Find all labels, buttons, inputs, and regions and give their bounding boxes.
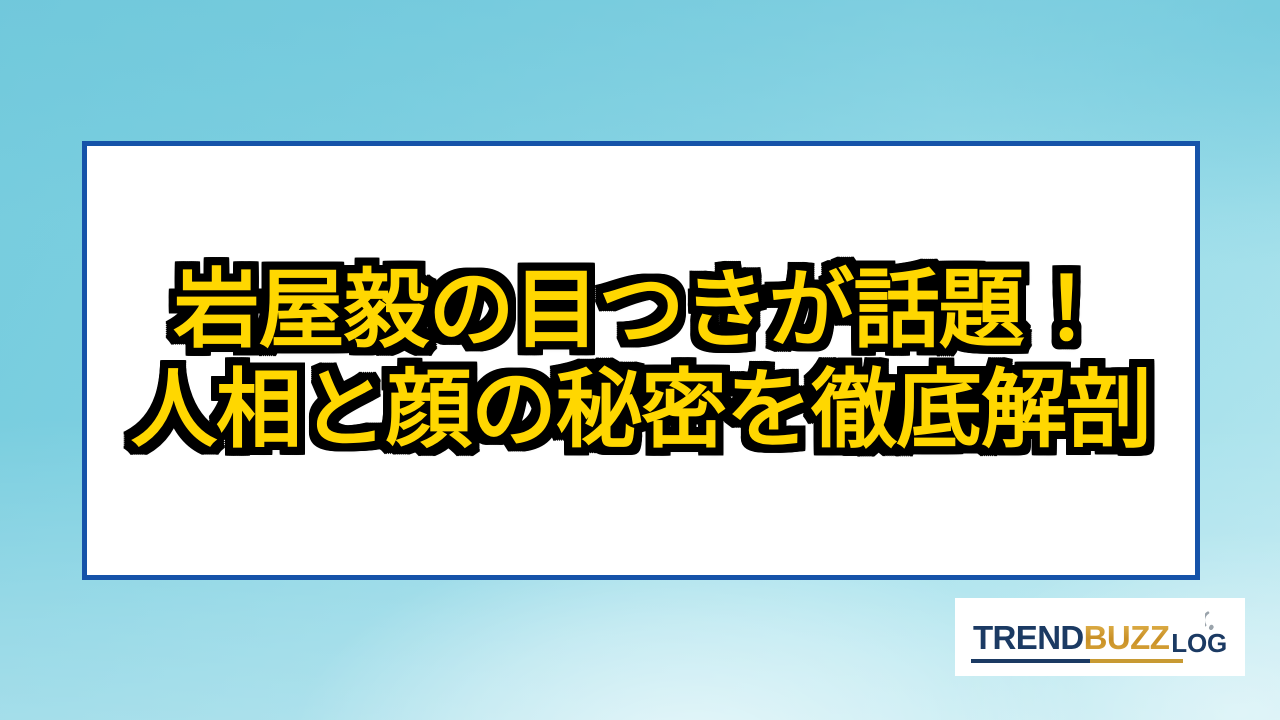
brand-word-buzz: BUZZ bbox=[1084, 621, 1170, 654]
wifi-signal-icon bbox=[1205, 602, 1237, 630]
headline-card: 岩屋毅の目つきが話題！ 人相と顔の秘密を徹底解剖 bbox=[82, 141, 1200, 580]
brand-logo-inner: TREND BUZZ LOG bbox=[967, 621, 1233, 654]
headline-line-1: 岩屋毅の目つきが話題！ bbox=[131, 267, 1151, 355]
headline-line-2: 人相と顔の秘密を徹底解剖 bbox=[131, 367, 1151, 455]
brand-underline-gold bbox=[1090, 659, 1183, 663]
thumbnail-canvas: 岩屋毅の目つきが話題！ 人相と顔の秘密を徹底解剖 TREND BUZZ LOG bbox=[0, 0, 1280, 720]
wifi-dot bbox=[1209, 624, 1213, 628]
brand-word-trend: TREND bbox=[973, 621, 1084, 654]
brand-logo-wordmark: TREND BUZZ LOG bbox=[973, 621, 1227, 654]
page-title: 岩屋毅の目つきが話題！ 人相と顔の秘密を徹底解剖 bbox=[131, 267, 1151, 454]
brand-logo[interactable]: TREND BUZZ LOG bbox=[955, 598, 1245, 676]
brand-word-log: LOG bbox=[1171, 630, 1227, 656]
brand-underline-navy bbox=[971, 659, 1090, 663]
brand-underline bbox=[971, 659, 1183, 663]
